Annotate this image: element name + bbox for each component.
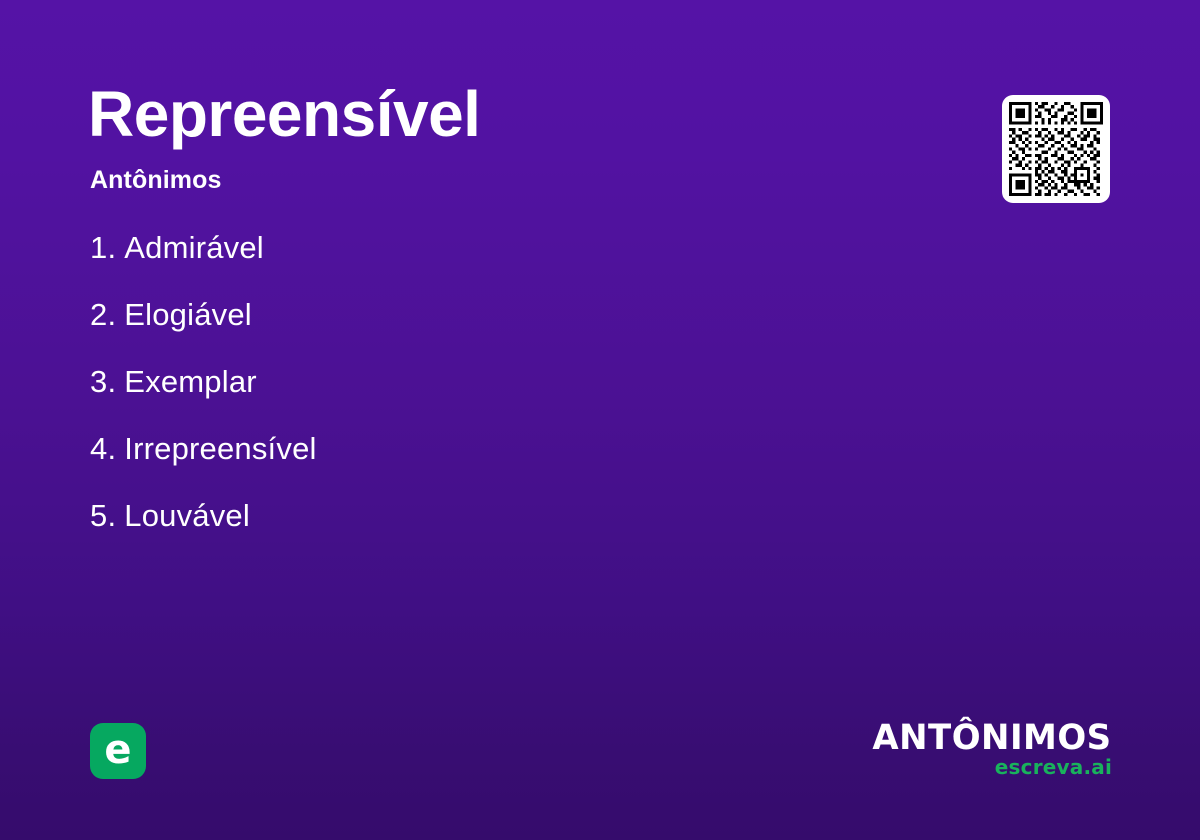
antonyms-card: Repreensível Antônimos	[0, 0, 1200, 840]
list-item-index: 1.	[90, 230, 116, 265]
list-item-word: Exemplar	[124, 364, 257, 399]
list-item-word: Admirável	[124, 230, 264, 265]
list-item: 5.Louvável	[90, 500, 890, 531]
list-item: 3.Exemplar	[90, 366, 890, 397]
footer-brand: ANTÔNIMOS escreva.ai	[865, 722, 1112, 777]
footer-wordmark: ANTÔNIMOS	[873, 722, 1112, 755]
list-item-index: 5.	[90, 498, 116, 533]
list-item-index: 4.	[90, 431, 116, 466]
list-item: 1.Admirável	[90, 232, 890, 263]
antonyms-list: 1.Admirável 2.Elogiável 3.Exemplar 4.Irr…	[90, 232, 890, 531]
list-item-index: 2.	[90, 297, 116, 332]
list-item: 4.Irrepreensível	[90, 433, 890, 464]
page-subtitle: Antônimos	[90, 168, 221, 193]
list-item-index: 3.	[90, 364, 116, 399]
escreva-logo-badge: e	[90, 723, 146, 779]
list-item: 2.Elogiável	[90, 299, 890, 330]
footer-domain: escreva.ai	[865, 757, 1112, 777]
list-item-word: Irrepreensível	[124, 431, 316, 466]
list-item-word: Louvável	[124, 498, 250, 533]
page-title: Repreensível	[88, 82, 480, 146]
qr-code[interactable]	[1002, 95, 1110, 203]
list-item-word: Elogiável	[124, 297, 252, 332]
qr-code-icon	[1009, 102, 1103, 196]
brand-badge-letter: e	[90, 723, 146, 779]
